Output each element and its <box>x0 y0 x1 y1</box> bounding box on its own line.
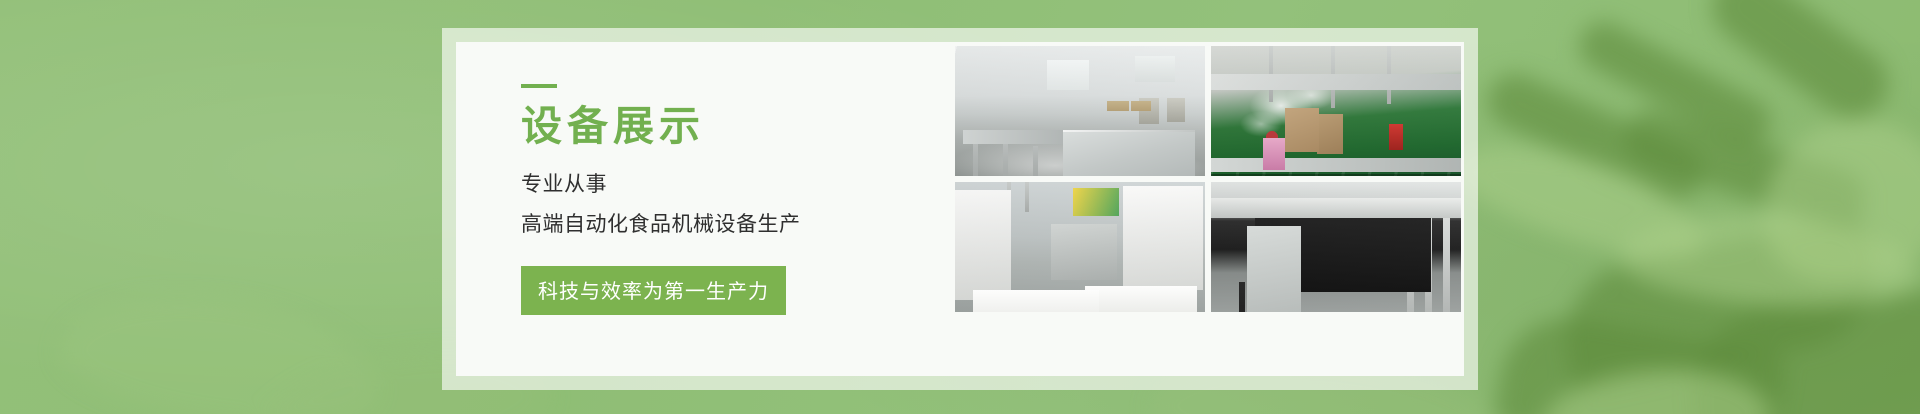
content-card-frame: 设备展示 专业从事 高端自动化食品机械设备生产 科技与效率为第一生产力 <box>442 28 1478 390</box>
accent-rule <box>521 84 557 88</box>
page-title: 设备展示 <box>521 104 941 149</box>
photo-overlay <box>1211 46 1461 176</box>
text-block: 设备展示 专业从事 高端自动化食品机械设备生产 科技与效率为第一生产力 <box>521 84 941 315</box>
photo-overlay <box>955 46 1205 176</box>
subtitle-line-2: 高端自动化食品机械设备生产 <box>521 209 941 241</box>
photo-control-panel[interactable] <box>1211 182 1461 312</box>
equipment-showcase-banner: 设备展示 专业从事 高端自动化食品机械设备生产 科技与效率为第一生产力 <box>0 0 1920 414</box>
photo-tray-packing[interactable] <box>955 182 1205 312</box>
photo-overlay <box>1211 182 1461 312</box>
photo-steam-conveyor[interactable] <box>1211 46 1461 176</box>
content-card: 设备展示 专业从事 高端自动化食品机械设备生产 科技与效率为第一生产力 <box>456 42 1464 376</box>
photo-blanching-line[interactable] <box>955 46 1205 176</box>
subtitle-line-1: 专业从事 <box>521 169 941 201</box>
tagline-button[interactable]: 科技与效率为第一生产力 <box>521 266 786 315</box>
equipment-photo-grid <box>955 46 1461 312</box>
photo-overlay <box>955 182 1205 312</box>
